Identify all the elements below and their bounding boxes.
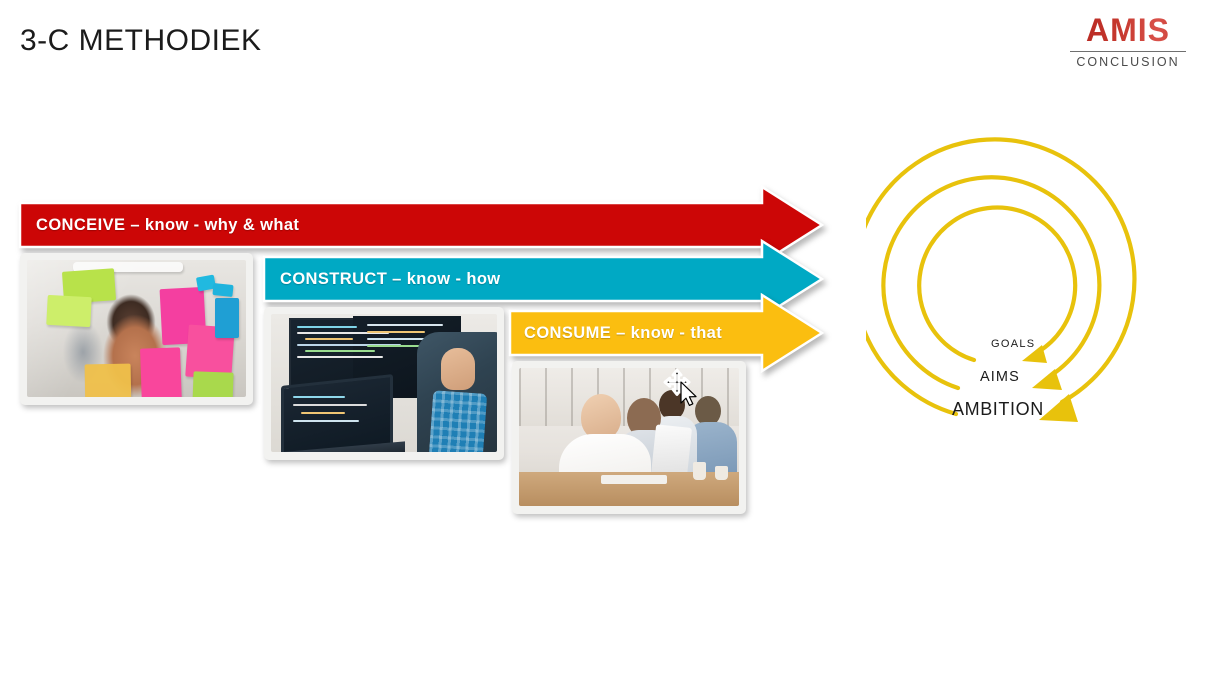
page-title: 3-C METHODIEK: [20, 24, 262, 58]
consume-arrow-banner[interactable]: CONSUME – know - that: [510, 308, 822, 358]
photo-frame: [519, 368, 739, 506]
spiral-label-ambition: AMBITION: [952, 399, 1044, 420]
photo-image: [519, 368, 739, 506]
logo-wordmark: AMIS: [1068, 14, 1188, 48]
photo-image: [27, 260, 246, 397]
spiral-label-aims: AIMS: [980, 369, 1020, 385]
photo-frame: [271, 314, 497, 452]
sticky-note-brainstorm-photo: [20, 253, 253, 405]
developer-coding-photo: [264, 307, 504, 460]
office-team-photo: [512, 361, 746, 514]
logo-divider: [1070, 51, 1186, 52]
construct-arrow-banner[interactable]: CONSTRUCT – know - how: [264, 254, 822, 304]
conceive-arrow-banner[interactable]: CONCEIVE – know - why & what: [20, 200, 822, 250]
logo-subtitle: CONCLUSION: [1068, 55, 1188, 69]
photo-frame: [27, 260, 246, 397]
photo-image: [271, 314, 497, 452]
slide-canvas: 3-C METHODIEK AMIS CONCLUSION CONCEIVE –…: [0, 0, 1220, 686]
ambition-aims-goals-spiral: GOALS AIMS AMBITION: [866, 126, 1166, 426]
spiral-label-goals: GOALS: [991, 338, 1035, 350]
amis-conclusion-logo: AMIS CONCLUSION: [1068, 14, 1188, 69]
